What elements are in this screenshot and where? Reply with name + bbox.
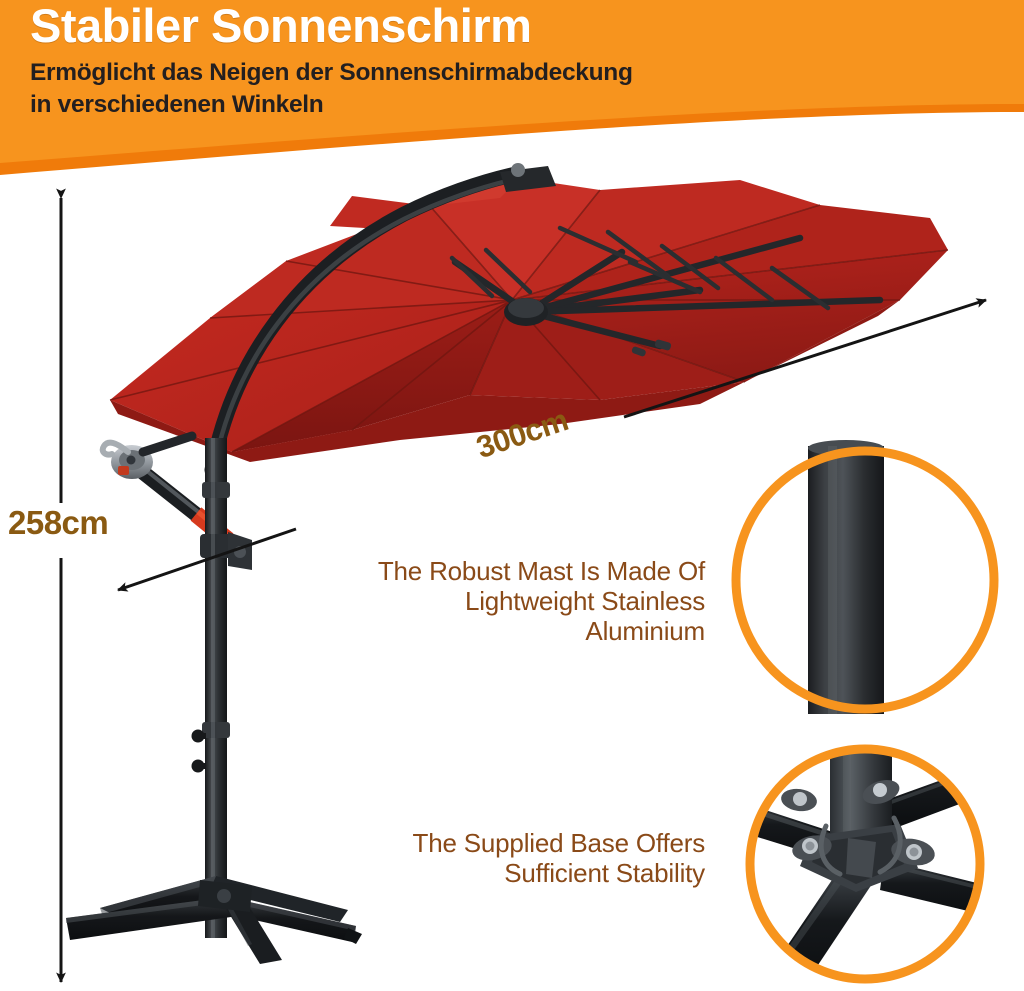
mast-tube-zoom [808,440,884,714]
callout-mast-closeup [713,428,1017,732]
feature-mast-line-2: Lightweight Stainless [270,586,705,616]
feature-mast-line-1: The Robust Mast Is Made Of [270,556,705,586]
feature-base-line-1: The Supplied Base Offers [270,828,705,858]
feature-text-mast: The Robust Mast Is Made Of Lightweight S… [270,556,705,646]
infographic-canvas: Stabiler Sonnenschirm Ermöglicht das Nei… [0,0,1024,991]
feature-base-line-2: Sufficient Stability [270,858,705,888]
feature-mast-line-3: Aluminium [270,616,705,646]
callout-base-closeup [735,736,997,991]
width-dim-right [624,300,986,417]
base-joint-zoom [735,736,997,991]
feature-text-base: The Supplied Base Offers Sufficient Stab… [270,828,705,888]
height-dimension-label: 258cm [8,504,108,542]
